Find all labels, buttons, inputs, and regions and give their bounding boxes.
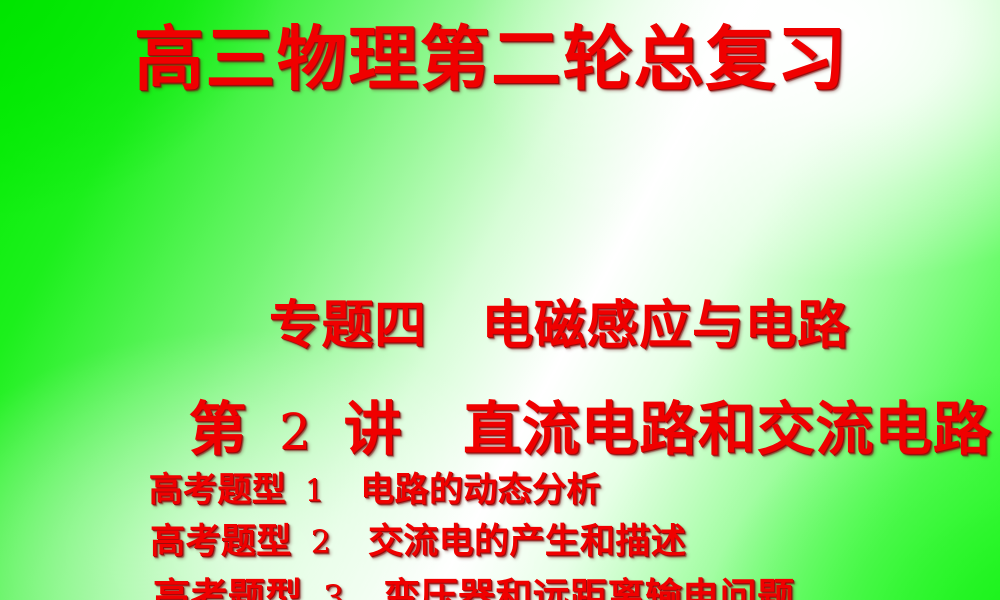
slide-main-title: 高三物理第二轮总复习 <box>134 24 848 94</box>
question-type-label-3: 高考题型 <box>153 575 302 600</box>
question-type-name-3: 变压器和远距离输电问题 <box>383 575 794 600</box>
question-type-number-3: 3 <box>323 578 345 600</box>
presentation-slide: 高三物理第二轮总复习 专题四电磁感应与电路 第2讲直流电路和交流电路 高考题型1… <box>0 0 1000 600</box>
question-type-item-3[interactable]: 高考题型3变压器和远距离输电问题 <box>100 541 794 600</box>
